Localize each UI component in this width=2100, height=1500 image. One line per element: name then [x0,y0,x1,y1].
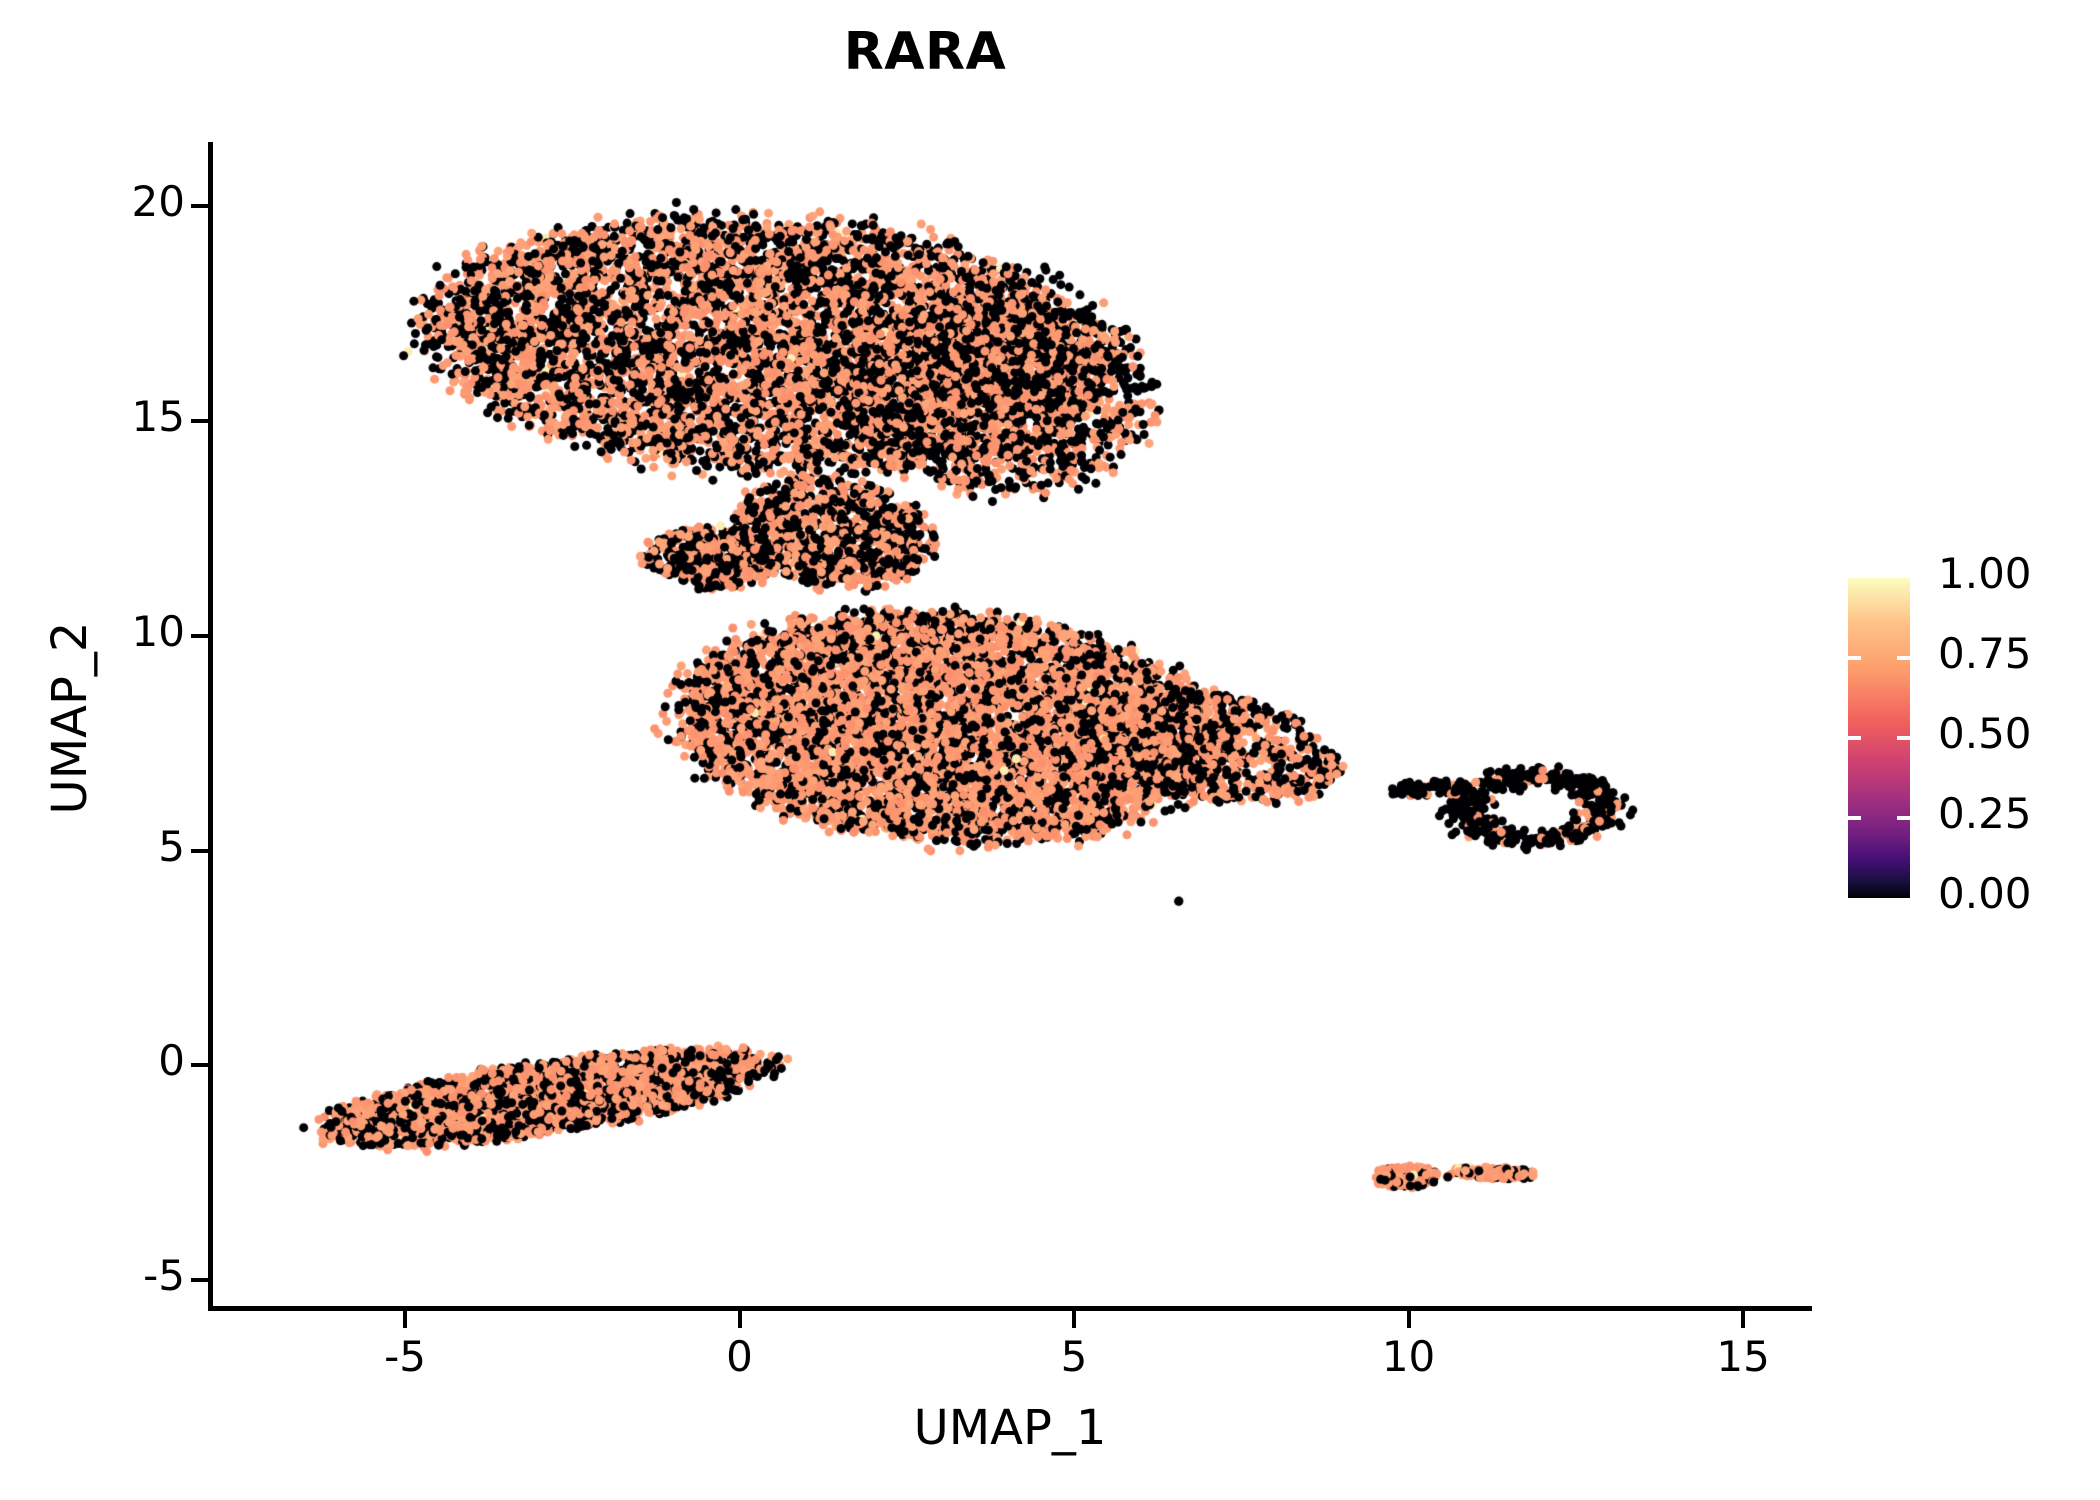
y-tick-mark [191,849,208,853]
y-tick-mark [191,1278,208,1282]
x-tick-label: -5 [384,1332,426,1381]
x-tick-label: 0 [726,1332,753,1381]
colorbar-tick-label: 1.00 [1938,549,2032,598]
scatter-canvas [211,142,1810,1306]
colorbar-tick-mark [1848,816,1910,820]
y-axis-spine [208,142,213,1310]
y-tick-mark [191,419,208,423]
y-axis-label: UMAP_2 [42,368,98,1068]
x-tick-mark [1407,1311,1411,1328]
colorbar-tick-mark [1848,656,1910,660]
x-axis-spine [208,1306,1812,1311]
colorbar-tick-label: 0.25 [1938,789,2032,838]
scatter-plot-area [211,142,1810,1306]
y-tick-label: -5 [143,1251,185,1300]
y-tick-label: 0 [158,1036,185,1085]
x-axis-label: UMAP_1 [0,1400,2020,1456]
colorbar-tick-mark [1848,736,1910,740]
y-tick-label: 15 [132,392,185,441]
x-tick-mark [1741,1311,1745,1328]
x-tick-mark [403,1311,407,1328]
chart-title: RARA [0,22,1850,82]
colorbar-tick-label: 0.75 [1938,629,2032,678]
x-tick-label: 5 [1061,1332,1088,1381]
y-tick-label: 5 [158,822,185,871]
x-tick-mark [738,1311,742,1328]
y-tick-label: 20 [132,177,185,226]
x-tick-label: 15 [1716,1332,1769,1381]
y-tick-label: 10 [132,607,185,656]
x-tick-label: 10 [1382,1332,1435,1381]
y-tick-mark [191,1063,208,1067]
y-tick-mark [191,634,208,638]
figure-root: RARA 20151050-5 -5051015 UMAP_1 UMAP_2 1… [0,0,2100,1500]
colorbar-tick-label: 0.00 [1938,869,2032,918]
x-tick-mark [1072,1311,1076,1328]
y-tick-mark [191,204,208,208]
colorbar-tick-label: 0.50 [1938,709,2032,758]
